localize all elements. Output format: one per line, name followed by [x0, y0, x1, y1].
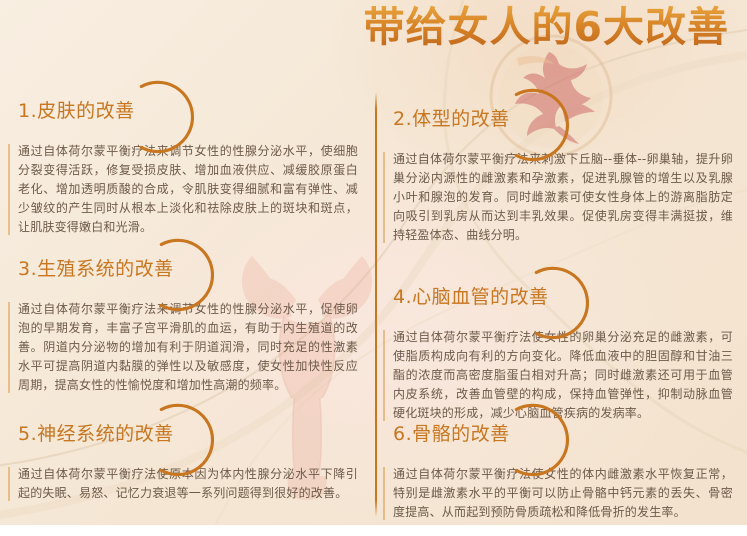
section-4-heading-text: 4.心脑血管的改善 [393, 282, 549, 309]
section-6-heading-text: 6.骨骼的改善 [393, 419, 510, 446]
section-2-body-text: 通过自体荷尔蒙平衡疗法来刺激下丘脑--垂体--卵巢轴，提升卵巢分泌内源性的雌激素… [393, 150, 733, 245]
section-3-accent-bar [8, 302, 10, 393]
section-3-heading-text: 3.生殖系统的改善 [18, 254, 174, 281]
section-2-body: 通过自体荷尔蒙平衡疗法来刺激下丘脑--垂体--卵巢轴，提升卵巢分泌内源性的雌激素… [379, 150, 745, 245]
section-6-body-text: 通过自体荷尔蒙平衡疗法使女性的体内雌激素水平恢复正常，特别是雌激素水平的平衡可以… [393, 465, 733, 522]
section-1: 1.皮肤的改善 通过自体荷尔蒙平衡疗法来调节女性的性腺分泌水平，使细胞分裂变得活… [4, 92, 370, 237]
section-6-body: 通过自体荷尔蒙平衡疗法使女性的体内雌激素水平恢复正常，特别是雌激素水平的平衡可以… [379, 465, 745, 522]
section-1-body: 通过自体荷尔蒙平衡疗法来调节女性的性腺分泌水平，使细胞分裂变得活跃，修复受损皮肤… [4, 142, 370, 237]
section-4-accent-bar [383, 330, 385, 421]
section-5-body: 通过自体荷尔蒙平衡疗法使原本因为体内性腺分泌水平下降引起的失眠、易怒、记忆力衰退… [4, 465, 370, 503]
section-5-body-text: 通过自体荷尔蒙平衡疗法使原本因为体内性腺分泌水平下降引起的失眠、易怒、记忆力衰退… [18, 465, 358, 503]
section-3-heading: 3.生殖系统的改善 [4, 250, 370, 300]
section-4: 4.心脑血管的改善 通过自体荷尔蒙平衡疗法使女性的卵巢分泌充足的雌激素，可使脂质… [379, 278, 745, 423]
section-5-accent-bar [8, 467, 10, 501]
section-1-heading: 1.皮肤的改善 [4, 92, 370, 142]
section-2: 2.体型的改善 通过自体荷尔蒙平衡疗法来刺激下丘脑--垂体--卵巢轴，提升卵巢分… [379, 100, 745, 245]
section-1-accent-bar [8, 144, 10, 235]
section-2-heading: 2.体型的改善 [379, 100, 745, 150]
left-column: 1.皮肤的改善 通过自体荷尔蒙平衡疗法来调节女性的性腺分泌水平，使细胞分裂变得活… [4, 0, 370, 536]
section-3-body: 通过自体荷尔蒙平衡疗法来调节女性的性腺分泌水平，促使卵泡的早期发育，丰富子宫平滑… [4, 300, 370, 395]
section-4-body-text: 通过自体荷尔蒙平衡疗法使女性的卵巢分泌充足的雌激素，可使脂质构成向有利的方向变化… [393, 328, 733, 423]
section-3-body-text: 通过自体荷尔蒙平衡疗法来调节女性的性腺分泌水平，促使卵泡的早期发育，丰富子宫平滑… [18, 300, 358, 395]
section-6-heading: 6.骨骼的改善 [379, 415, 745, 465]
section-6-accent-bar [383, 467, 385, 520]
section-1-heading-text: 1.皮肤的改善 [18, 96, 135, 123]
section-4-body: 通过自体荷尔蒙平衡疗法使女性的卵巢分泌充足的雌激素，可使脂质构成向有利的方向变化… [379, 328, 745, 423]
section-6: 6.骨骼的改善 通过自体荷尔蒙平衡疗法使女性的体内雌激素水平恢复正常，特别是雌激… [379, 415, 745, 522]
right-column: 2.体型的改善 通过自体荷尔蒙平衡疗法来刺激下丘脑--垂体--卵巢轴，提升卵巢分… [379, 0, 745, 536]
section-5-heading: 5.神经系统的改善 [4, 415, 370, 465]
poster-root: 带给女人的6大改善 1.皮肤的改善 通过自体荷尔蒙平衡疗法来调节女性的性腺分泌水… [0, 0, 747, 536]
section-2-accent-bar [383, 152, 385, 243]
section-3: 3.生殖系统的改善 通过自体荷尔蒙平衡疗法来调节女性的性腺分泌水平，促使卵泡的早… [4, 250, 370, 395]
page-title: 带给女人的6大改善 [0, 5, 729, 51]
section-5: 5.神经系统的改善 通过自体荷尔蒙平衡疗法使原本因为体内性腺分泌水平下降引起的失… [4, 415, 370, 503]
content-columns: 1.皮肤的改善 通过自体荷尔蒙平衡疗法来调节女性的性腺分泌水平，使细胞分裂变得活… [0, 0, 747, 536]
section-4-heading: 4.心脑血管的改善 [379, 278, 745, 328]
page-title-text: 带给女人的6大改善 [363, 5, 729, 51]
section-2-heading-text: 2.体型的改善 [393, 104, 510, 131]
section-5-heading-text: 5.神经系统的改善 [18, 419, 174, 446]
section-1-body-text: 通过自体荷尔蒙平衡疗法来调节女性的性腺分泌水平，使细胞分裂变得活跃，修复受损皮肤… [18, 142, 358, 237]
